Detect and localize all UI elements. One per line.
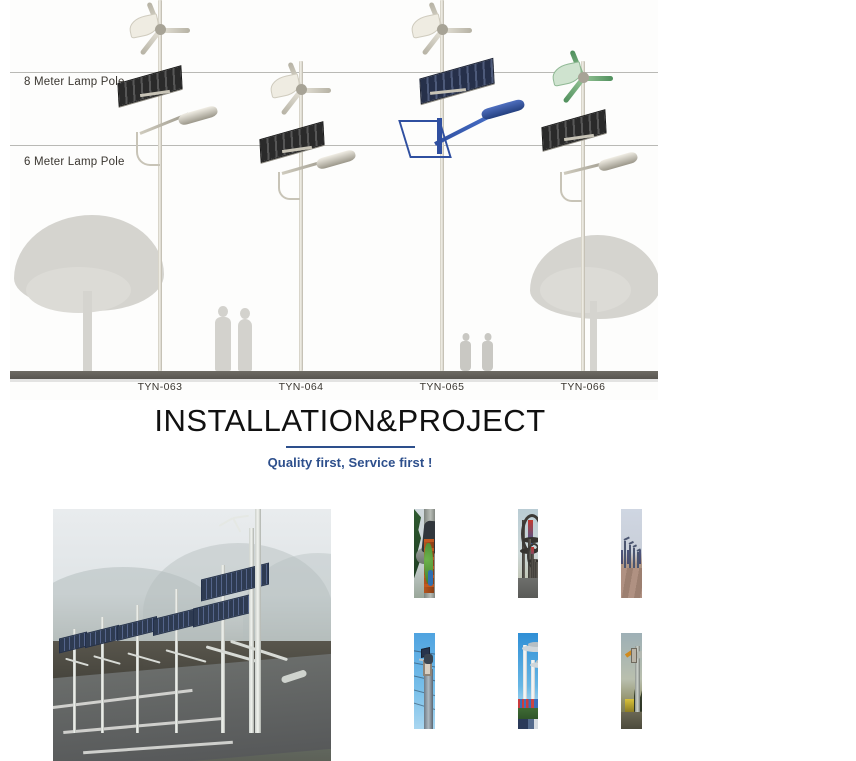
lamp-head-icon — [315, 149, 356, 171]
lamp-head-icon — [480, 98, 525, 121]
tagline: Quality first, Service first ! — [0, 455, 700, 470]
child-silhouette-right — [482, 341, 493, 371]
model-code-tyn-066: TYN-066 — [561, 381, 606, 393]
tree-silhouette-left — [14, 196, 164, 371]
lamp-head-icon — [597, 151, 638, 173]
title-divider — [286, 446, 415, 448]
pole-brace-stem — [437, 118, 442, 154]
pole-brace — [136, 132, 160, 166]
person-silhouette-left — [215, 317, 231, 371]
gallery-photo-dusk-crane[interactable] — [621, 633, 642, 729]
child-silhouette-left — [460, 341, 471, 371]
tree-silhouette-right — [530, 221, 658, 371]
gallery-grid — [374, 493, 682, 745]
pole-brace — [560, 172, 582, 202]
gallery-photo-bucket-lift[interactable] — [414, 633, 435, 729]
gallery-photo-highway[interactable] — [53, 509, 331, 761]
pole-brace — [278, 172, 300, 200]
wind-turbine-icon — [407, 2, 477, 62]
ground-shadow — [10, 379, 658, 382]
section-heading: INSTALLATION&PROJECT Quality first, Serv… — [0, 404, 700, 470]
gallery-photo-curved-arm-poles[interactable] — [621, 509, 642, 598]
gallery-photo-high-mast[interactable] — [518, 633, 539, 729]
model-code-tyn-063: TYN-063 — [138, 381, 183, 393]
wind-turbine-icon — [548, 50, 618, 110]
tier-label-6m: 6 Meter Lamp Pole — [24, 156, 125, 168]
gallery-photo-vawt-street[interactable] — [518, 509, 539, 598]
project-photo-gallery — [13, 493, 682, 745]
person-silhouette-right — [238, 319, 252, 371]
model-code-tyn-064: TYN-064 — [279, 381, 324, 393]
page-title: INSTALLATION&PROJECT — [0, 404, 700, 438]
gallery-photo-ladder-install[interactable] — [414, 509, 435, 598]
model-code-tyn-065: TYN-065 — [420, 381, 465, 393]
tier-label-8m: 8 Meter Lamp Pole — [24, 76, 125, 88]
ground-line — [10, 371, 658, 379]
lamp-head-icon — [177, 105, 218, 127]
lamp-pole-spec-diagram: 8 Meter Lamp Pole 6 Meter Lamp Pole TYN-… — [10, 0, 658, 400]
solar-panel-icon — [259, 121, 324, 163]
wind-turbine-icon — [266, 62, 336, 122]
wind-turbine-icon — [125, 2, 195, 62]
solar-panel-icon — [419, 58, 494, 105]
